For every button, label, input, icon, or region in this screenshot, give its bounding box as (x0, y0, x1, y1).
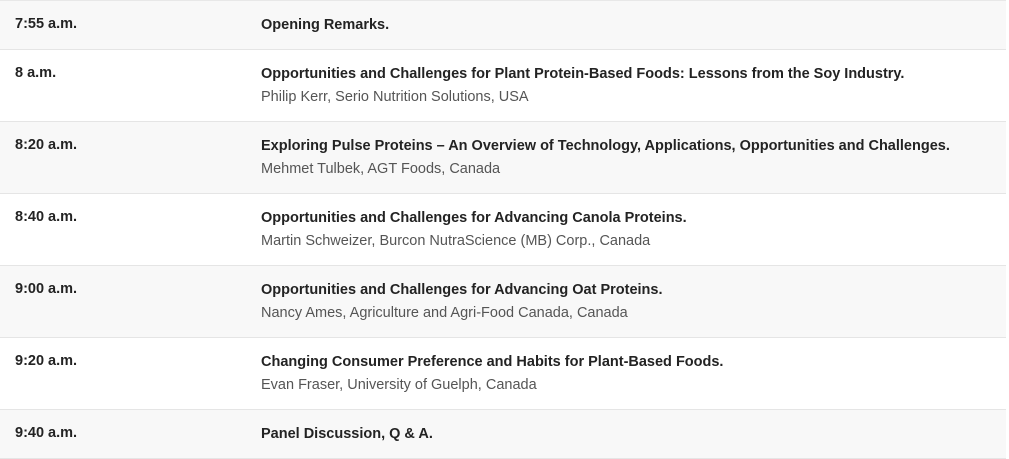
schedule-table: 7:55 a.m.Opening Remarks.8 a.m.Opportuni… (0, 0, 1006, 459)
schedule-row: 9:40 a.m.Panel Discussion, Q & A. (0, 410, 1006, 459)
session-speaker: Evan Fraser, University of Guelph, Canad… (261, 375, 994, 395)
session-details: Changing Consumer Preference and Habits … (261, 338, 1006, 410)
session-time: 9:40 a.m. (0, 410, 261, 459)
session-title: Opportunities and Challenges for Advanci… (261, 208, 994, 228)
schedule-row: 8 a.m.Opportunities and Challenges for P… (0, 50, 1006, 122)
session-time: 8:20 a.m. (0, 122, 261, 194)
session-details: Opportunities and Challenges for Plant P… (261, 50, 1006, 122)
schedule-table-body: 7:55 a.m.Opening Remarks.8 a.m.Opportuni… (0, 1, 1006, 459)
session-details: Panel Discussion, Q & A. (261, 410, 1006, 459)
session-title: Opportunities and Challenges for Plant P… (261, 64, 994, 84)
session-title: Opportunities and Challenges for Advanci… (261, 280, 994, 300)
session-time: 9:20 a.m. (0, 338, 261, 410)
schedule-row: 7:55 a.m.Opening Remarks. (0, 1, 1006, 50)
session-details: Opening Remarks. (261, 1, 1006, 50)
schedule-row: 8:20 a.m.Exploring Pulse Proteins – An O… (0, 122, 1006, 194)
session-title: Panel Discussion, Q & A. (261, 424, 994, 444)
session-time: 8 a.m. (0, 50, 261, 122)
session-title: Exploring Pulse Proteins – An Overview o… (261, 136, 994, 156)
schedule-row: 8:40 a.m.Opportunities and Challenges fo… (0, 194, 1006, 266)
session-time: 9:00 a.m. (0, 266, 261, 338)
session-speaker: Martin Schweizer, Burcon NutraScience (M… (261, 231, 994, 251)
schedule-row: 9:20 a.m.Changing Consumer Preference an… (0, 338, 1006, 410)
session-title: Opening Remarks. (261, 15, 994, 35)
session-time: 8:40 a.m. (0, 194, 261, 266)
session-time: 7:55 a.m. (0, 1, 261, 50)
session-speaker: Mehmet Tulbek, AGT Foods, Canada (261, 159, 994, 179)
schedule-row: 9:00 a.m.Opportunities and Challenges fo… (0, 266, 1006, 338)
session-speaker: Nancy Ames, Agriculture and Agri-Food Ca… (261, 303, 994, 323)
session-details: Exploring Pulse Proteins – An Overview o… (261, 122, 1006, 194)
session-title: Changing Consumer Preference and Habits … (261, 352, 994, 372)
session-details: Opportunities and Challenges for Advanci… (261, 194, 1006, 266)
session-details: Opportunities and Challenges for Advanci… (261, 266, 1006, 338)
session-speaker: Philip Kerr, Serio Nutrition Solutions, … (261, 87, 994, 107)
